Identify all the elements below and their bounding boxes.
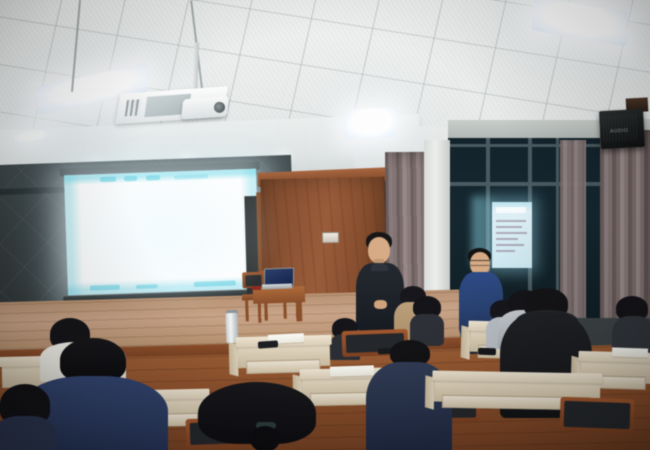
attendee-dark-left <box>0 384 54 450</box>
projection-screen[interactable] <box>64 169 260 296</box>
smartphone-center[interactable] <box>258 340 278 348</box>
slide-artifact-4 <box>90 285 120 291</box>
attendee-ponytail-bun <box>250 426 280 450</box>
monitor-text-line-4 <box>496 238 518 240</box>
monitor-text-line-5 <box>496 244 524 246</box>
smartphone-right[interactable] <box>478 348 496 356</box>
attendee-ponytail <box>198 382 318 450</box>
slide-artifact-3 <box>146 175 160 180</box>
paper-sheet-4 <box>612 347 648 357</box>
projector-vent-icon <box>125 99 141 116</box>
fluorescent-panel-light-center-icon <box>344 107 398 139</box>
laptop-keyboard[interactable] <box>262 283 292 289</box>
presenter-primary-hands <box>374 300 387 309</box>
monitor-text-line-1 <box>496 220 526 222</box>
slide-artifact-6 <box>194 280 236 286</box>
conference-room-photo: AUDIO <box>0 0 650 450</box>
monitor-header-bar <box>496 207 526 213</box>
attendee-dark-seated <box>410 296 444 344</box>
slide-artifact-5 <box>136 284 158 289</box>
desk-front <box>238 344 331 368</box>
screen-projected-image <box>64 169 260 296</box>
glasses-icon <box>470 260 490 266</box>
speaker-brand-label: AUDIO <box>610 128 629 135</box>
attendee-torso <box>0 416 56 450</box>
monitor-text-line-3 <box>496 232 527 234</box>
projector-pole-mount <box>192 42 199 94</box>
light-switch-plate[interactable] <box>322 232 339 243</box>
wall-mounted-speaker: AUDIO <box>599 109 645 149</box>
presenter-primary-collar <box>371 263 388 271</box>
red-item-on-table <box>252 286 261 290</box>
audience-chair-4[interactable] <box>559 397 634 434</box>
slide-artifact-7 <box>174 174 208 179</box>
chair-pad <box>564 401 631 429</box>
monitor-text-line-2 <box>496 226 522 228</box>
slide-artifact-2 <box>124 176 137 181</box>
chair-leg-left <box>245 299 249 321</box>
slide-artifact-1 <box>100 177 116 183</box>
ceiling-projector <box>117 84 232 134</box>
